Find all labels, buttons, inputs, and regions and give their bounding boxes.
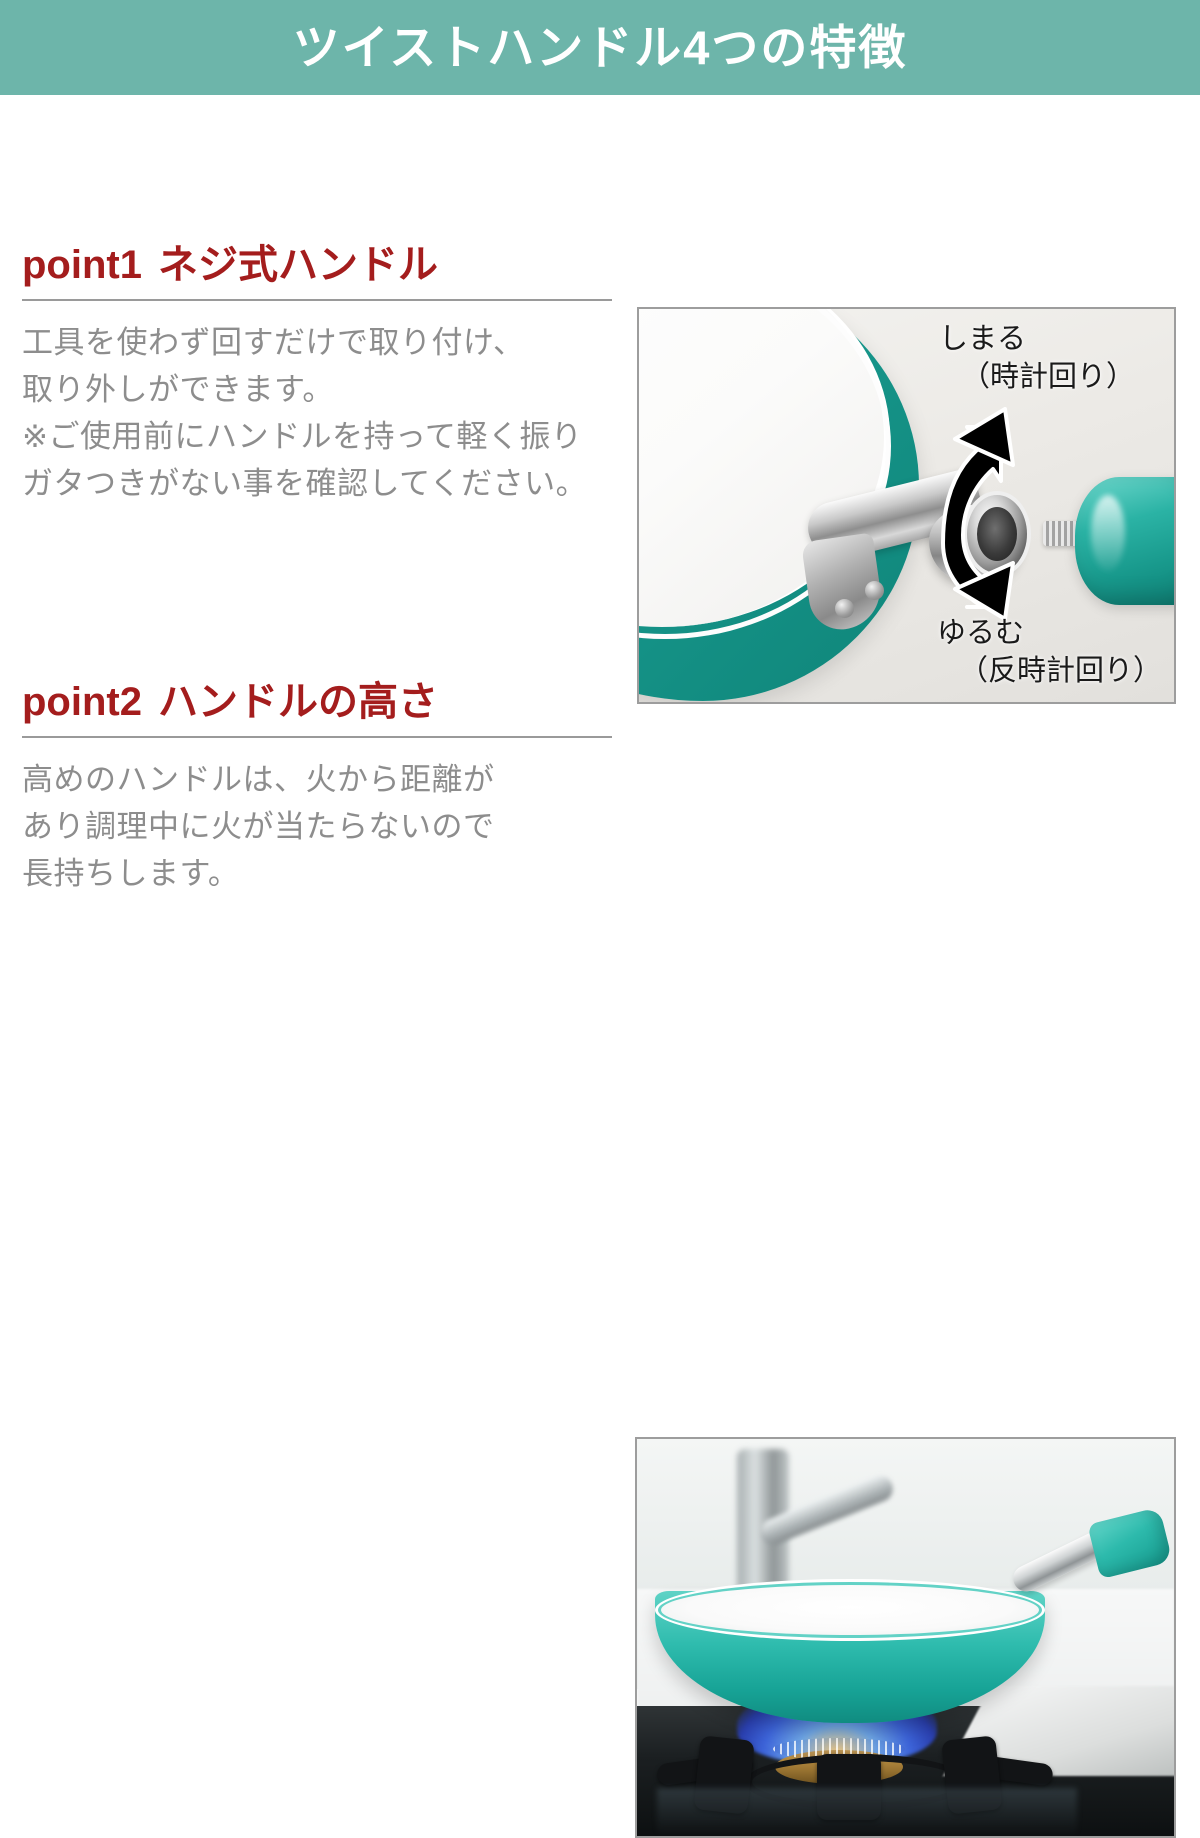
point2-body-line-3: 長持ちします。 (22, 850, 622, 897)
point1-body-line-4: ガタつきがない事を確認してください。 (22, 460, 622, 507)
point1-body-line-2: 取り外しができます。 (22, 366, 622, 413)
point2-title: ハンドルの高さ (158, 680, 438, 724)
point2-body-line-1: 高めのハンドルは、火から距離が (22, 756, 622, 803)
frying-pan-rim (655, 1579, 1045, 1641)
point2-photo-pan-on-stove (635, 1437, 1176, 1838)
section-point2: point2ハンドルの高さ 高めのハンドルは、火から距離が あり調理中に火が当た… (0, 680, 1200, 1200)
point1-photo-screw-handle: しまる （時計回り） ゆるむ （反時計回り） (637, 307, 1176, 704)
detachable-handle-teal (1075, 477, 1176, 605)
point1-text-column: point1ネジ式ハンドル 工具を使わず回すだけで取り付け、 取り外しができます… (22, 243, 622, 507)
point2-body-text: 高めのハンドルは、火から距離が あり調理中に火が当たらないので 長持ちします。 (22, 756, 622, 897)
point2-text-column: point2ハンドルの高さ 高めのハンドルは、火から距離が あり調理中に火が当た… (22, 680, 622, 897)
point1-heading: point1ネジ式ハンドル (22, 243, 622, 287)
point1-title: ネジ式ハンドル (158, 243, 438, 287)
point1-heading-rule (22, 299, 612, 301)
bracket-rivet (835, 599, 854, 618)
cooktop-reflection (657, 1788, 1077, 1836)
caption-tighten-sub: （時計回り） (939, 359, 1135, 397)
photo1-caption-tighten: しまる （時計回り） (939, 321, 1135, 396)
point1-label: point1 (22, 243, 142, 287)
point2-body-line-2: あり調理中に火が当たらないので (22, 803, 622, 850)
caption-loosen-main: ゆるむ (937, 617, 1024, 649)
point1-body-line-3: ※ご使用前にハンドルを持って軽く振り (22, 413, 622, 460)
point2-heading: point2ハンドルの高さ (22, 680, 622, 724)
section-point1: point1ネジ式ハンドル 工具を使わず回すだけで取り付け、 取り外しができます… (0, 95, 1200, 680)
point2-heading-rule (22, 736, 612, 738)
handle-highlight (1091, 495, 1125, 571)
page-header-banner: ツイストハンドル4つの特徴 (0, 0, 1200, 95)
point1-body-text: 工具を使わず回すだけで取り付け、 取り外しができます。 ※ご使用前にハンドルを持… (22, 319, 622, 507)
point2-label: point2 (22, 680, 142, 724)
page-title: ツイストハンドル4つの特徴 (293, 24, 908, 71)
caption-tighten-main: しまる (939, 323, 1026, 355)
bracket-rivet (865, 581, 884, 600)
point1-body-line-1: 工具を使わず回すだけで取り付け、 (22, 319, 622, 366)
rotation-double-arrow-icon (909, 393, 1039, 633)
